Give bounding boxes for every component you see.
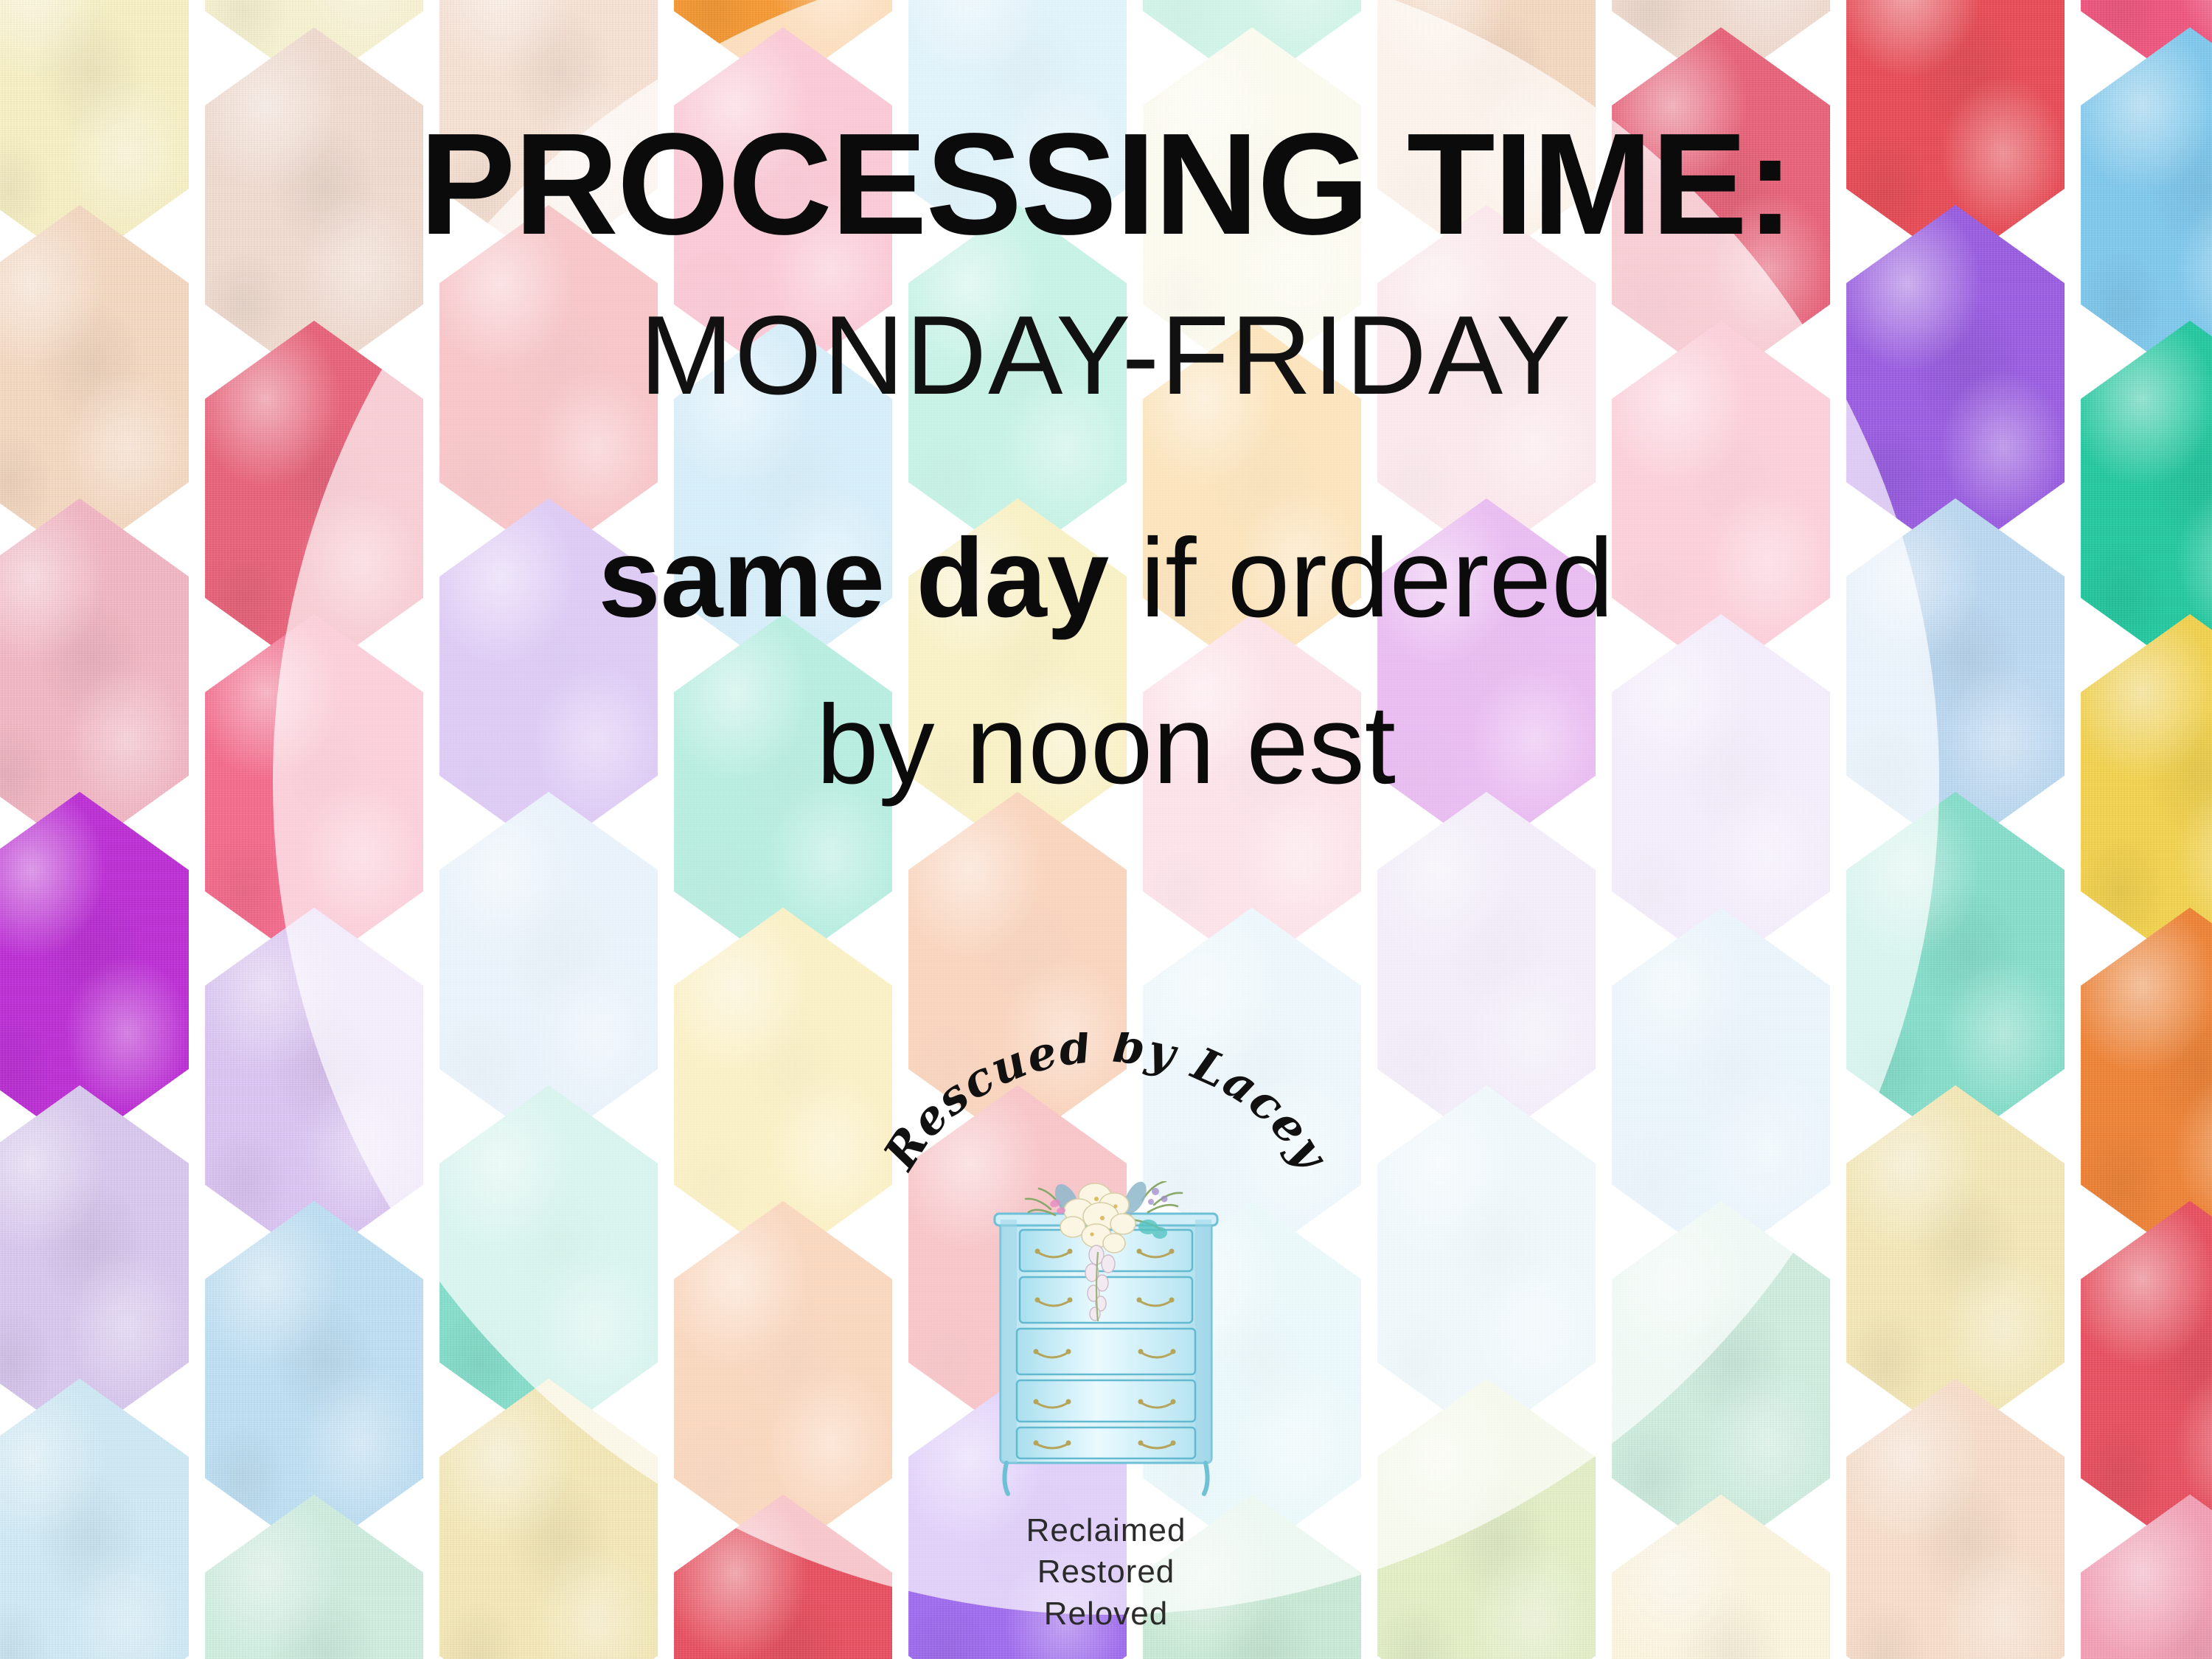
message-rest: if ordered xyxy=(1109,515,1613,641)
tagline-line-3: Reloved xyxy=(1026,1593,1186,1635)
message-emphasis: same day xyxy=(598,515,1109,641)
tagline-line-2: Restored xyxy=(1026,1551,1186,1593)
message-line-1: same day if ordered xyxy=(598,522,1613,634)
brand-logo: Rescued by Lacey xyxy=(870,1032,1342,1635)
dresser-illustration xyxy=(984,1181,1228,1498)
tagline-line-1: Reclaimed xyxy=(1026,1510,1186,1551)
message-line-2: by noon est xyxy=(816,689,1396,801)
page-subtitle: MONDAY-FRIDAY xyxy=(640,299,1573,411)
brand-tagline: Reclaimed Restored Reloved xyxy=(1026,1510,1186,1635)
brand-script-text: Rescued by Lacey xyxy=(872,1032,1340,1180)
brand-script-arc: Rescued by Lacey xyxy=(870,1032,1342,1202)
page-title: PROCESSING TIME: xyxy=(420,112,1793,257)
poster-canvas: PROCESSING TIME: MONDAY-FRIDAY same day … xyxy=(0,0,2212,1659)
